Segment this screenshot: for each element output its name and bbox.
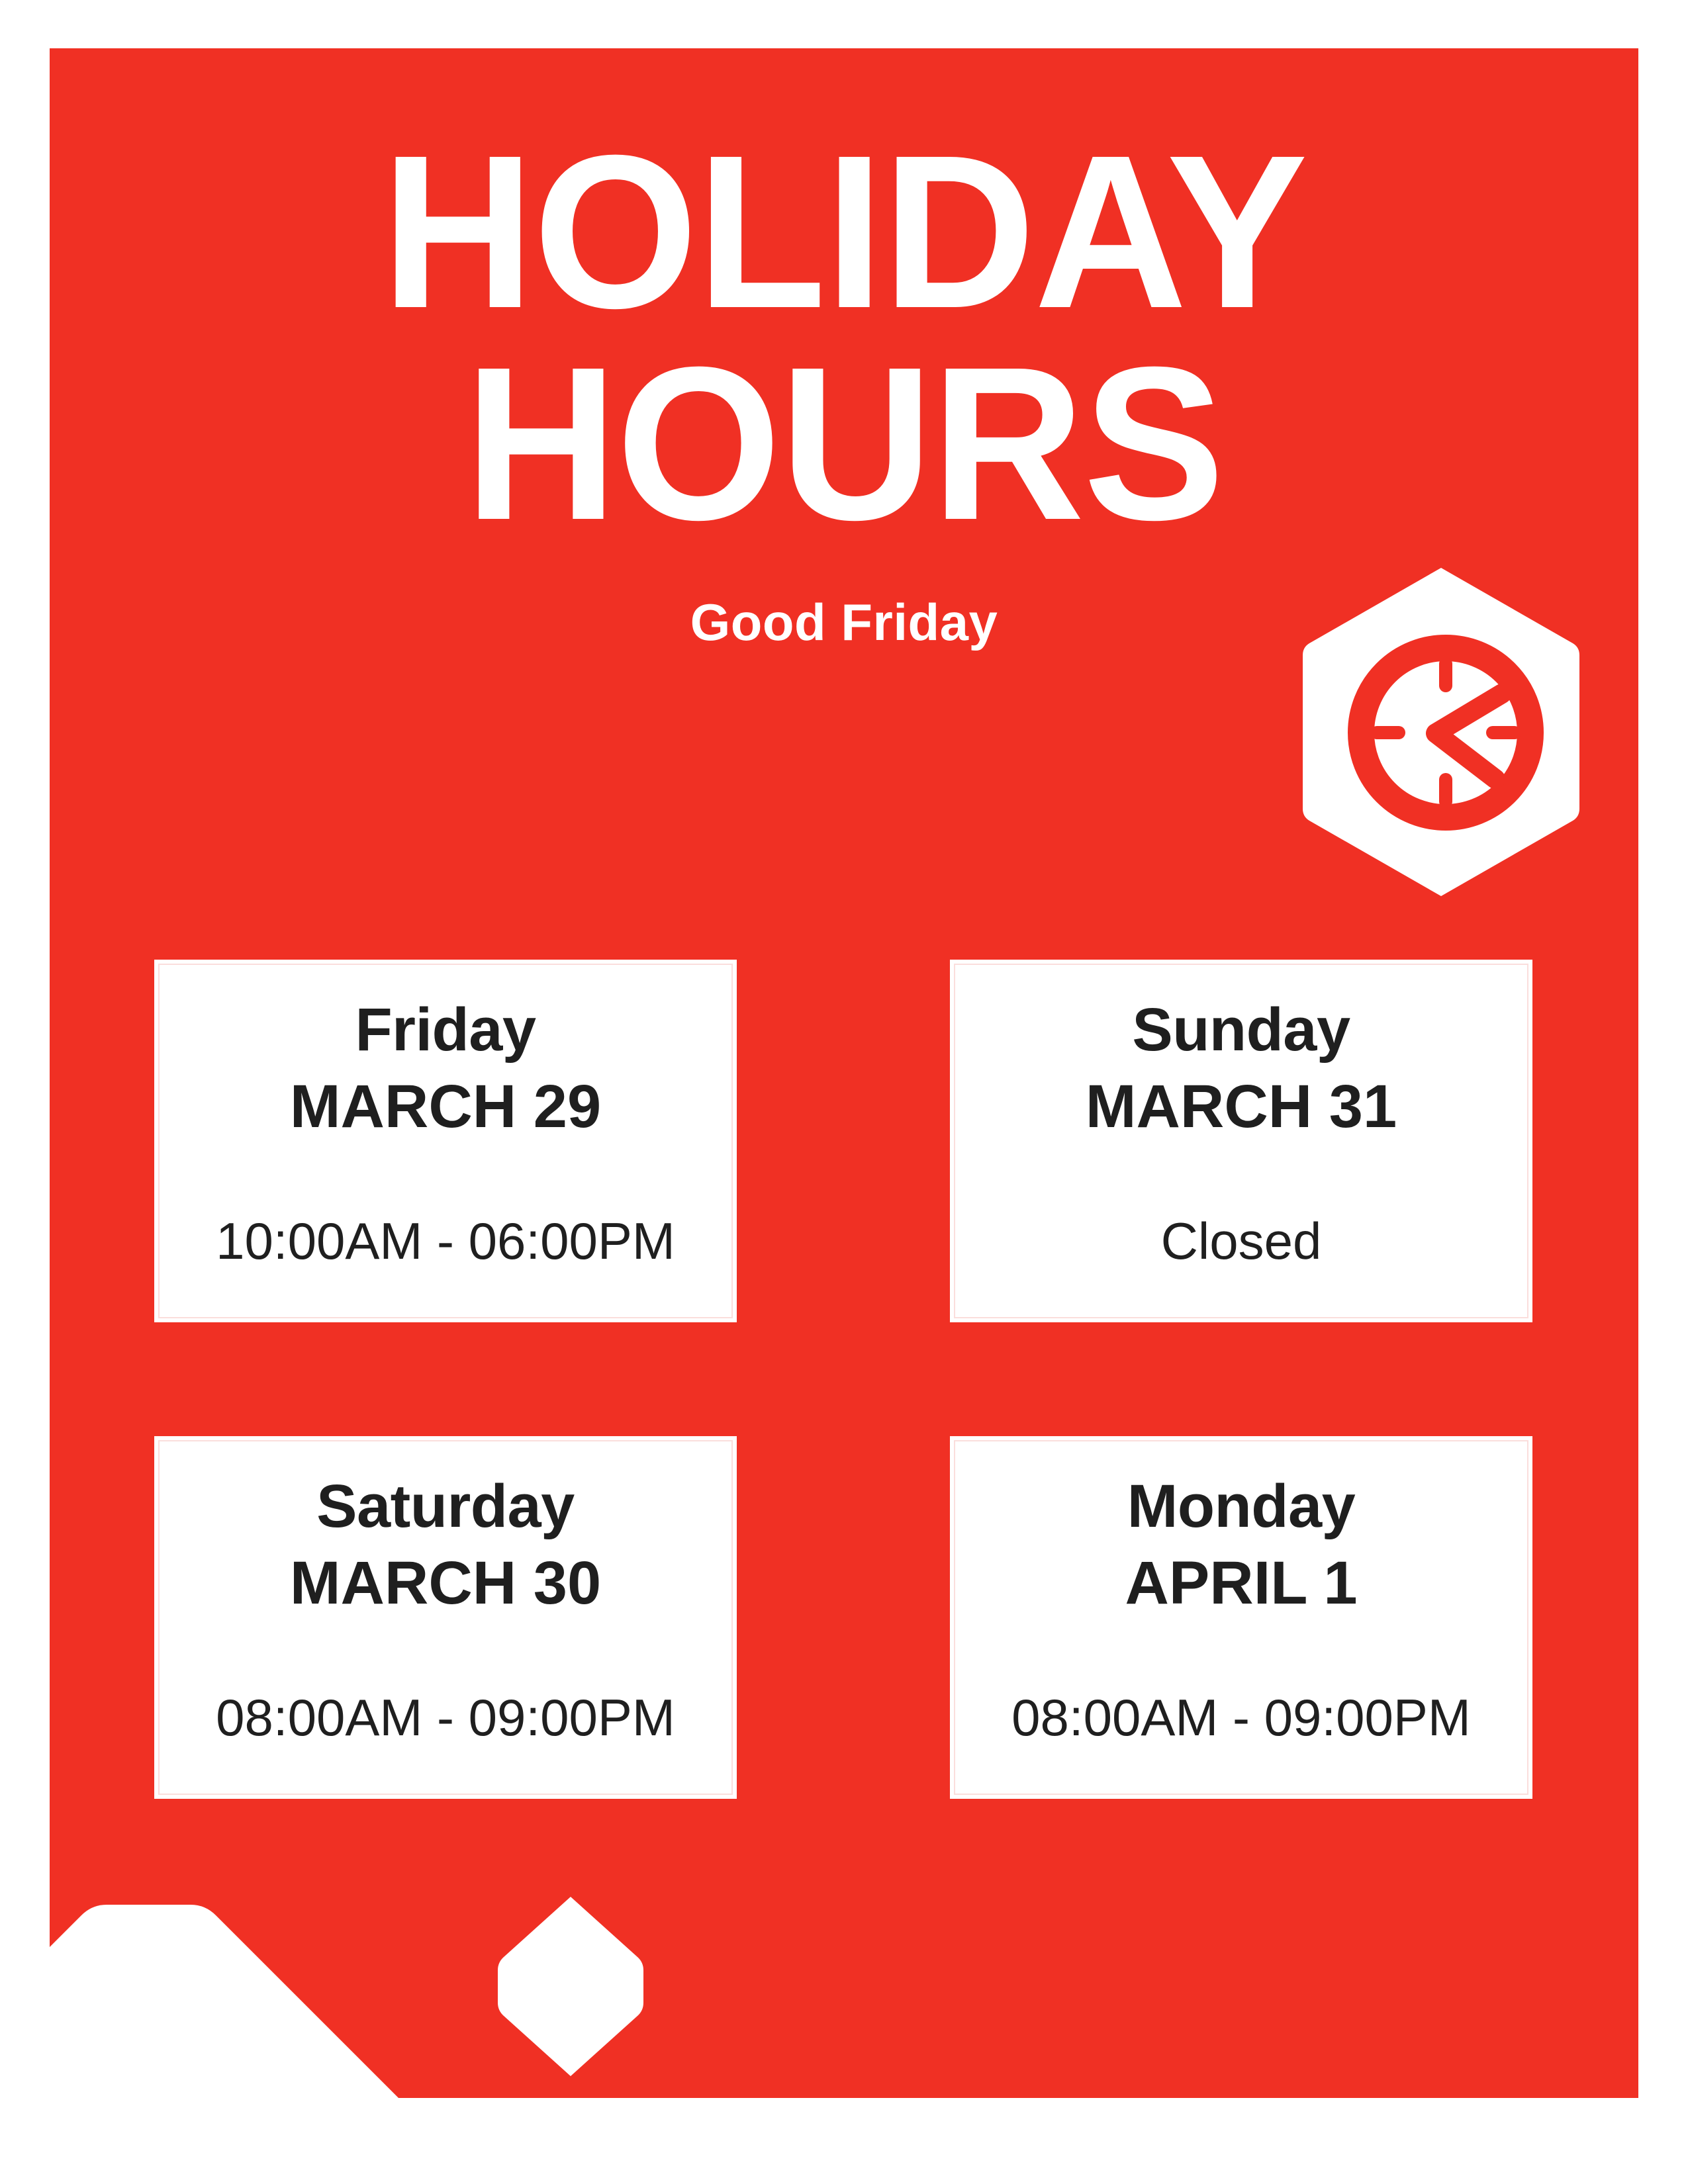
schedule-card[interactable]: Sunday MARCH 31 Closed — [950, 960, 1532, 1322]
card-content: Friday MARCH 29 10:00AM - 06:00PM — [158, 964, 733, 1318]
card-hours-label: Closed — [1161, 1215, 1322, 1267]
card-day-label: Saturday — [316, 1476, 575, 1537]
schedule-card[interactable]: Saturday MARCH 30 08:00AM - 09:00PM — [154, 1436, 737, 1799]
clock-icon — [1299, 564, 1583, 900]
schedule-card[interactable]: Friday MARCH 29 10:00AM - 06:00PM — [154, 960, 737, 1322]
schedule-card-grid: Friday MARCH 29 10:00AM - 06:00PM Sunday… — [154, 960, 1534, 1797]
page-title-line-2: HOURS — [73, 338, 1615, 549]
card-day-label: Friday — [355, 999, 536, 1060]
card-hours-label: 08:00AM - 09:00PM — [216, 1692, 675, 1743]
card-date-label: APRIL 1 — [1125, 1553, 1357, 1614]
card-hours-label: 10:00AM - 06:00PM — [216, 1215, 675, 1267]
clock-badge — [1299, 564, 1583, 900]
page-title-line-1: HOLIDAY — [73, 126, 1615, 338]
schedule-card[interactable]: Monday APRIL 1 08:00AM - 09:00PM — [950, 1436, 1532, 1799]
card-content: Monday APRIL 1 08:00AM - 09:00PM — [954, 1440, 1528, 1795]
card-date-label: MARCH 31 — [1086, 1076, 1397, 1137]
poster-canvas: HOLIDAY HOURS Good Friday Friday MARCH 2… — [0, 0, 1688, 2184]
card-date-label: MARCH 30 — [290, 1553, 601, 1614]
card-day-label: Monday — [1127, 1476, 1356, 1537]
card-day-label: Sunday — [1132, 999, 1350, 1060]
card-content: Saturday MARCH 30 08:00AM - 09:00PM — [158, 1440, 733, 1795]
card-date-label: MARCH 29 — [290, 1076, 601, 1137]
card-content: Sunday MARCH 31 Closed — [954, 964, 1528, 1318]
card-hours-label: 08:00AM - 09:00PM — [1011, 1692, 1471, 1743]
